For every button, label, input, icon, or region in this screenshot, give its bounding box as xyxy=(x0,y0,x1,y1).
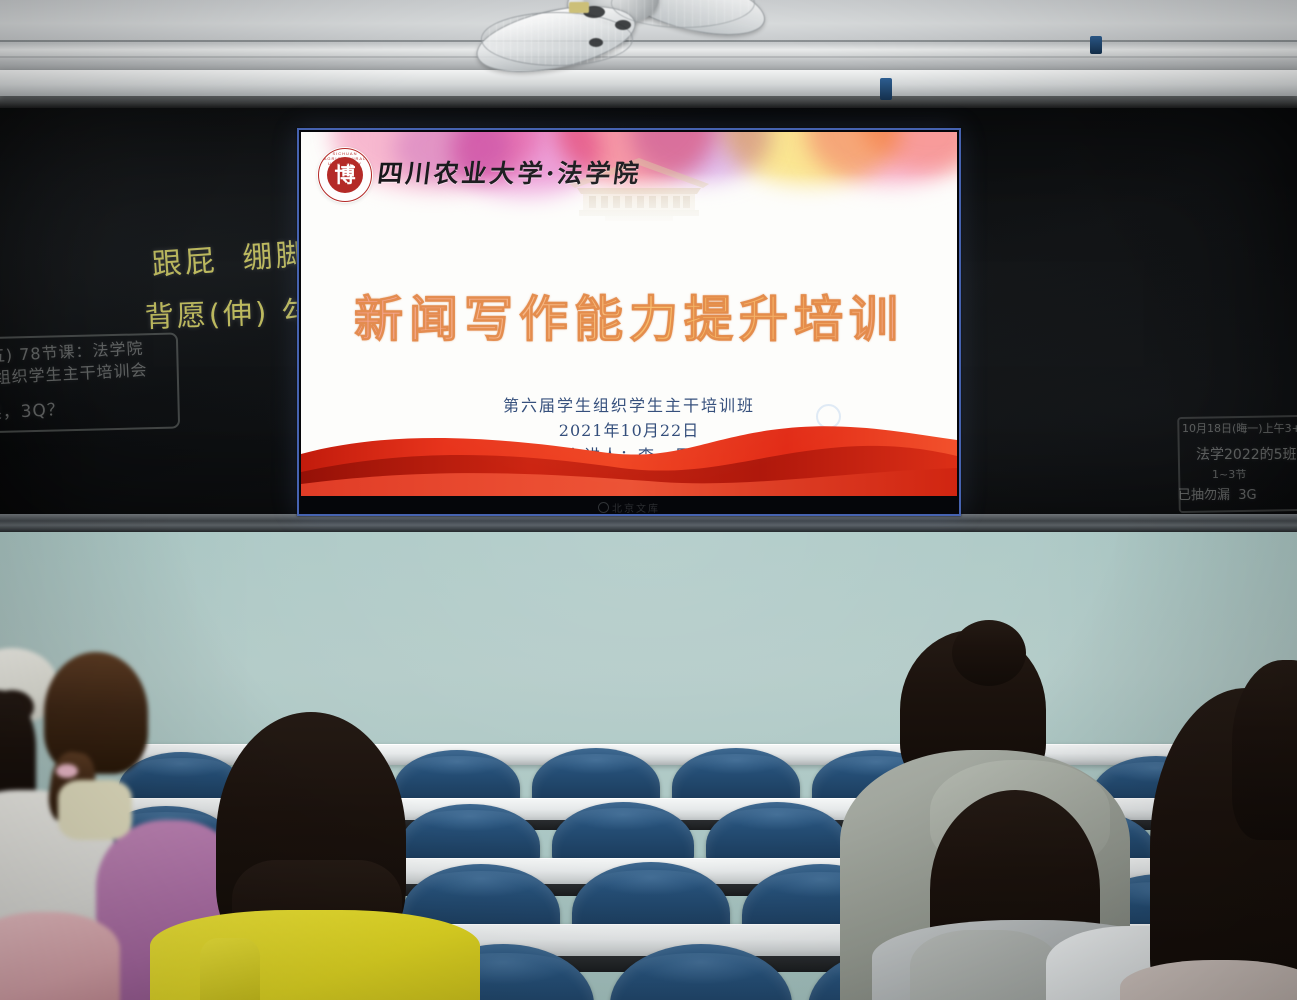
board-clip-far-right xyxy=(1090,36,1102,54)
fan-cage xyxy=(481,12,633,66)
slide-watermark: 北京文库 xyxy=(297,500,961,515)
slide-title-outline: 新闻写作能力提升培训 xyxy=(301,280,957,351)
university-seal-icon: SICHUAN AGRICULTURAL UNIVERSITY 博 xyxy=(318,148,372,202)
ceiling-fan xyxy=(465,0,775,96)
organization-name: 四川农业大学·法学院 xyxy=(376,154,644,190)
presentation-slide: SICHUAN AGRICULTURAL UNIVERSITY 博 四川农业大学… xyxy=(301,132,957,496)
chalk-box-right xyxy=(1177,415,1297,513)
chalk-box-left xyxy=(0,332,180,433)
board-clip-right xyxy=(880,78,892,100)
projection-screen[interactable]: SICHUAN AGRICULTURAL UNIVERSITY 博 四川农业大学… xyxy=(297,128,961,516)
watermark-text: 北京文库 xyxy=(612,504,660,515)
splash-fade-overlay xyxy=(301,132,957,252)
watermark-icon xyxy=(598,502,609,513)
blackboard-chalk-rail xyxy=(0,514,1297,532)
shoulder xyxy=(200,938,260,1000)
red-ribbon-decoration xyxy=(301,410,957,496)
hood xyxy=(910,930,1060,1000)
body xyxy=(0,912,120,1000)
collar xyxy=(58,780,132,840)
seal-arc-text: SICHUAN AGRICULTURAL UNIVERSITY xyxy=(319,151,371,171)
classroom-photo-scene: 跟屁 绷脚尖 背愿(伸) 勾~ (周五) 78节课：法学院 学生组织学生主干培训… xyxy=(0,0,1297,1000)
hair-bun xyxy=(952,620,1026,686)
hair-tie xyxy=(56,764,78,778)
